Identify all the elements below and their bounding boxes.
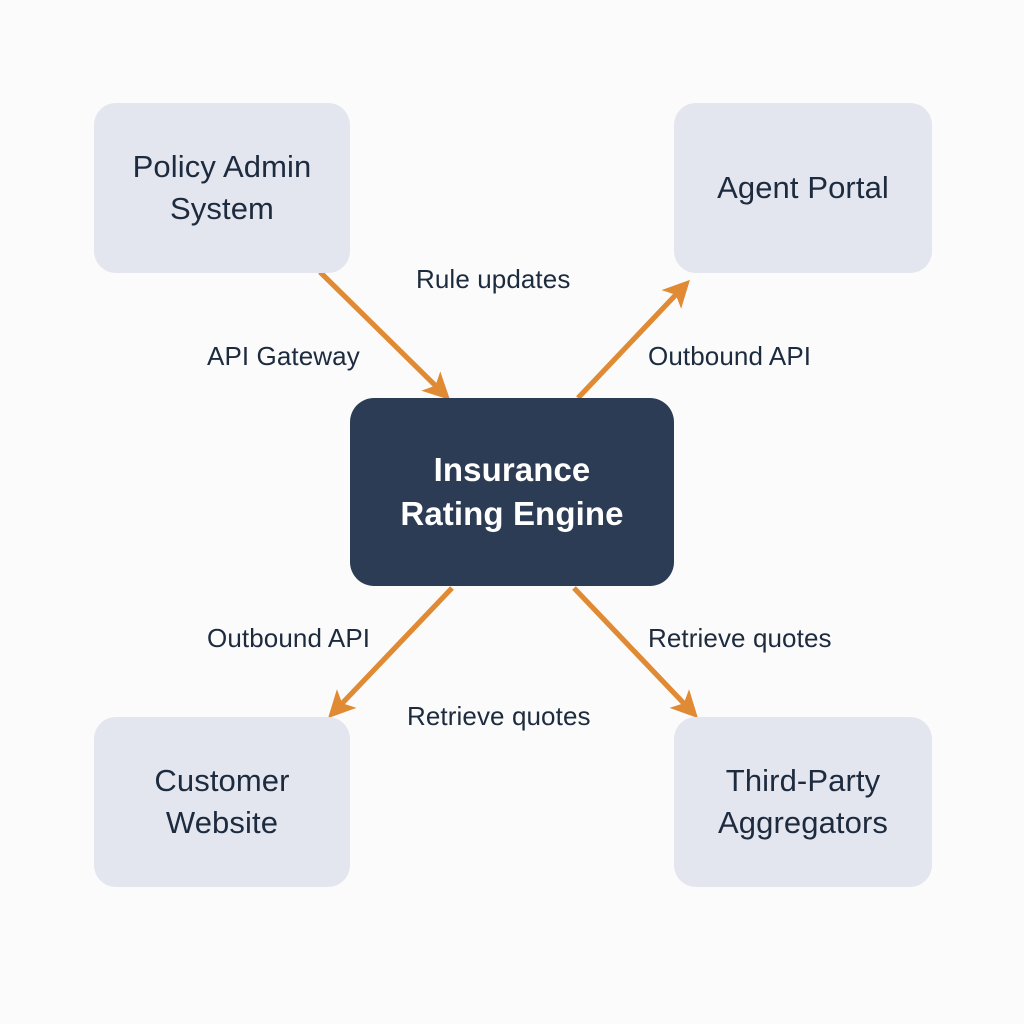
node-agent-portal[interactable]: Agent Portal: [674, 103, 932, 273]
edge-label-retrieve-quotes-customer-website: Retrieve quotes: [407, 701, 591, 732]
node-policy-admin-system-label: Policy Admin System: [133, 146, 312, 229]
node-third-party-aggregators[interactable]: Third-Party Aggregators: [674, 717, 932, 887]
edge-label-api-gateway: API Gateway: [207, 341, 360, 372]
node-insurance-rating-engine-label: Insurance Rating Engine: [400, 448, 623, 536]
edge-label-retrieve-quotes-aggregators: Retrieve quotes: [648, 623, 832, 654]
node-customer-website[interactable]: Customer Website: [94, 717, 350, 887]
edge-label-outbound-api-customer-website: Outbound API: [207, 623, 370, 654]
node-agent-portal-label: Agent Portal: [717, 167, 889, 209]
node-third-party-aggregators-label: Third-Party Aggregators: [718, 760, 888, 843]
node-policy-admin-system[interactable]: Policy Admin System: [94, 103, 350, 273]
diagram-canvas: Policy Admin System Agent Portal Insuran…: [0, 0, 1024, 1024]
node-insurance-rating-engine[interactable]: Insurance Rating Engine: [350, 398, 674, 586]
edge-label-outbound-api-agent-portal: Outbound API: [648, 341, 811, 372]
node-customer-website-label: Customer Website: [154, 760, 289, 843]
edge-label-rule-updates: Rule updates: [416, 264, 570, 295]
